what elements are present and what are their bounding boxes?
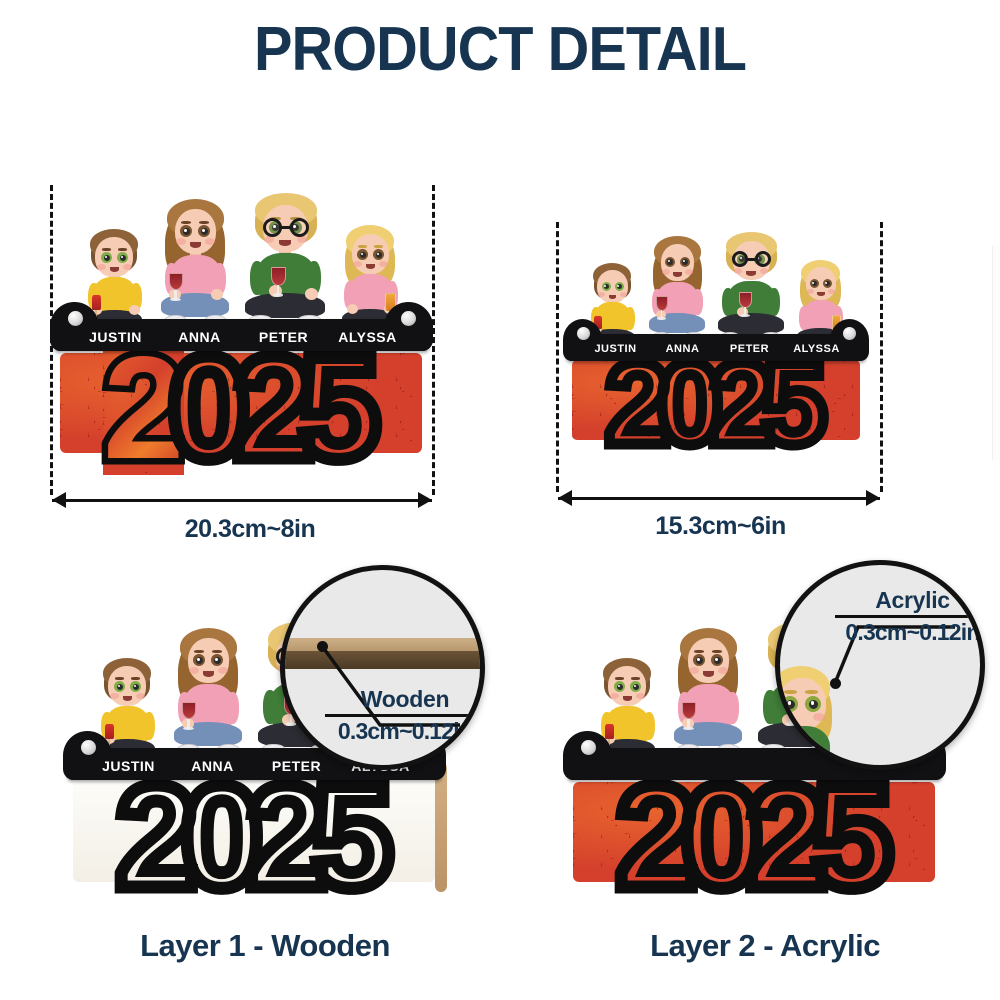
panel-layer-2-acrylic: 2 0 2 5 bbox=[555, 610, 975, 910]
material-label: Acrylic bbox=[835, 587, 985, 614]
dimension-arrow-row bbox=[558, 488, 880, 508]
name-peter: PETER bbox=[716, 343, 783, 355]
ornament-large: JUSTIN ANNA PETER ALYSSA 2 2 0 2 5 bbox=[54, 193, 429, 483]
mounting-hole-left bbox=[581, 740, 596, 755]
year-2025-acrylic: 2 0 2 5 bbox=[567, 770, 942, 890]
wine-glass-icon bbox=[182, 702, 196, 730]
name-peter: PETER bbox=[242, 329, 326, 345]
name-anna: ANNA bbox=[158, 329, 242, 345]
panel-size-variant-large: 20.3cm~8in bbox=[40, 185, 460, 535]
caption-layer-2: Layer 2 - Acrylic bbox=[555, 928, 975, 964]
name-justin: JUSTIN bbox=[74, 329, 158, 345]
callout-rule bbox=[325, 714, 485, 717]
figure-man bbox=[708, 232, 793, 348]
wine-glass-icon bbox=[271, 267, 286, 297]
name-justin: JUSTIN bbox=[582, 343, 649, 355]
figure-woman bbox=[660, 622, 756, 762]
name-anna: ANNA bbox=[171, 758, 255, 774]
year-digit: 5 bbox=[812, 770, 893, 904]
wine-glass-icon bbox=[169, 273, 183, 301]
year-2025-wooden: 2 0 2 5 bbox=[67, 770, 442, 890]
figure-woman bbox=[147, 193, 243, 333]
panel-layer-1-wooden: JUSTIN ANNA PETER ALYSSA 2 0 2 5 bbox=[55, 610, 475, 910]
year-2025-large: 2 2 0 2 5 bbox=[54, 341, 429, 461]
callout-anchor-dot bbox=[830, 678, 841, 689]
family-figures-group bbox=[566, 230, 866, 348]
name-alyssa: ALYSSA bbox=[326, 329, 410, 345]
figure-man bbox=[233, 193, 337, 333]
thickness-label: 0.3cm~0.12in bbox=[835, 619, 985, 646]
dimension-guide-left bbox=[556, 222, 559, 492]
acrylic-callout: Acrylic 0.3cm~0.12in bbox=[835, 587, 985, 646]
figure-woman bbox=[638, 232, 716, 348]
eyeglasses-icon bbox=[732, 251, 771, 268]
panel-size-variant-small: 15.3cm~6in bbox=[548, 222, 893, 532]
name-list: JUSTIN ANNA PETER ALYSSA bbox=[54, 323, 429, 351]
wooden-callout: Wooden 0.3cm~0.12in bbox=[325, 686, 485, 745]
name-list: JUSTIN ANNA PETER ALYSSA bbox=[566, 337, 866, 361]
magnifier-acrylic: Acrylic 0.3cm~0.12in bbox=[775, 560, 985, 770]
family-figures-group bbox=[54, 193, 429, 333]
wine-glass-icon bbox=[656, 296, 668, 320]
panel-cutoff-edge bbox=[992, 245, 1000, 460]
name-justin: JUSTIN bbox=[87, 758, 171, 774]
name-alyssa: ALYSSA bbox=[783, 343, 850, 355]
year-digit: 5 bbox=[299, 341, 380, 475]
name-anna: ANNA bbox=[649, 343, 716, 355]
magnifier-wooden: Wooden 0.3cm~0.12in bbox=[280, 565, 485, 770]
dimension-guide-right bbox=[880, 222, 883, 492]
dimension-label-small: 15.3cm~6in bbox=[548, 512, 893, 541]
ornament-small: JUSTIN ANNA PETER ALYSSA 2 0 2 5 bbox=[566, 230, 866, 480]
material-label: Wooden bbox=[325, 686, 485, 713]
page-title: PRODUCT DETAIL bbox=[35, 14, 965, 85]
wine-glass-icon bbox=[682, 702, 696, 730]
dimension-arrow-row bbox=[52, 490, 432, 510]
callout-anchor-dot bbox=[317, 641, 328, 652]
eyeglasses-icon bbox=[263, 218, 309, 238]
year-digit: 5 bbox=[762, 350, 827, 458]
dimension-label-large: 20.3cm~8in bbox=[40, 515, 460, 544]
year-digit: 5 bbox=[312, 770, 393, 904]
thickness-label: 0.3cm~0.12in bbox=[325, 718, 485, 745]
caption-layer-1: Layer 1 - Wooden bbox=[55, 928, 475, 964]
wine-glass-icon bbox=[739, 292, 752, 317]
year-2025-small: 2 0 2 5 bbox=[566, 350, 866, 450]
figure-woman bbox=[160, 622, 256, 762]
callout-rule bbox=[835, 615, 985, 618]
